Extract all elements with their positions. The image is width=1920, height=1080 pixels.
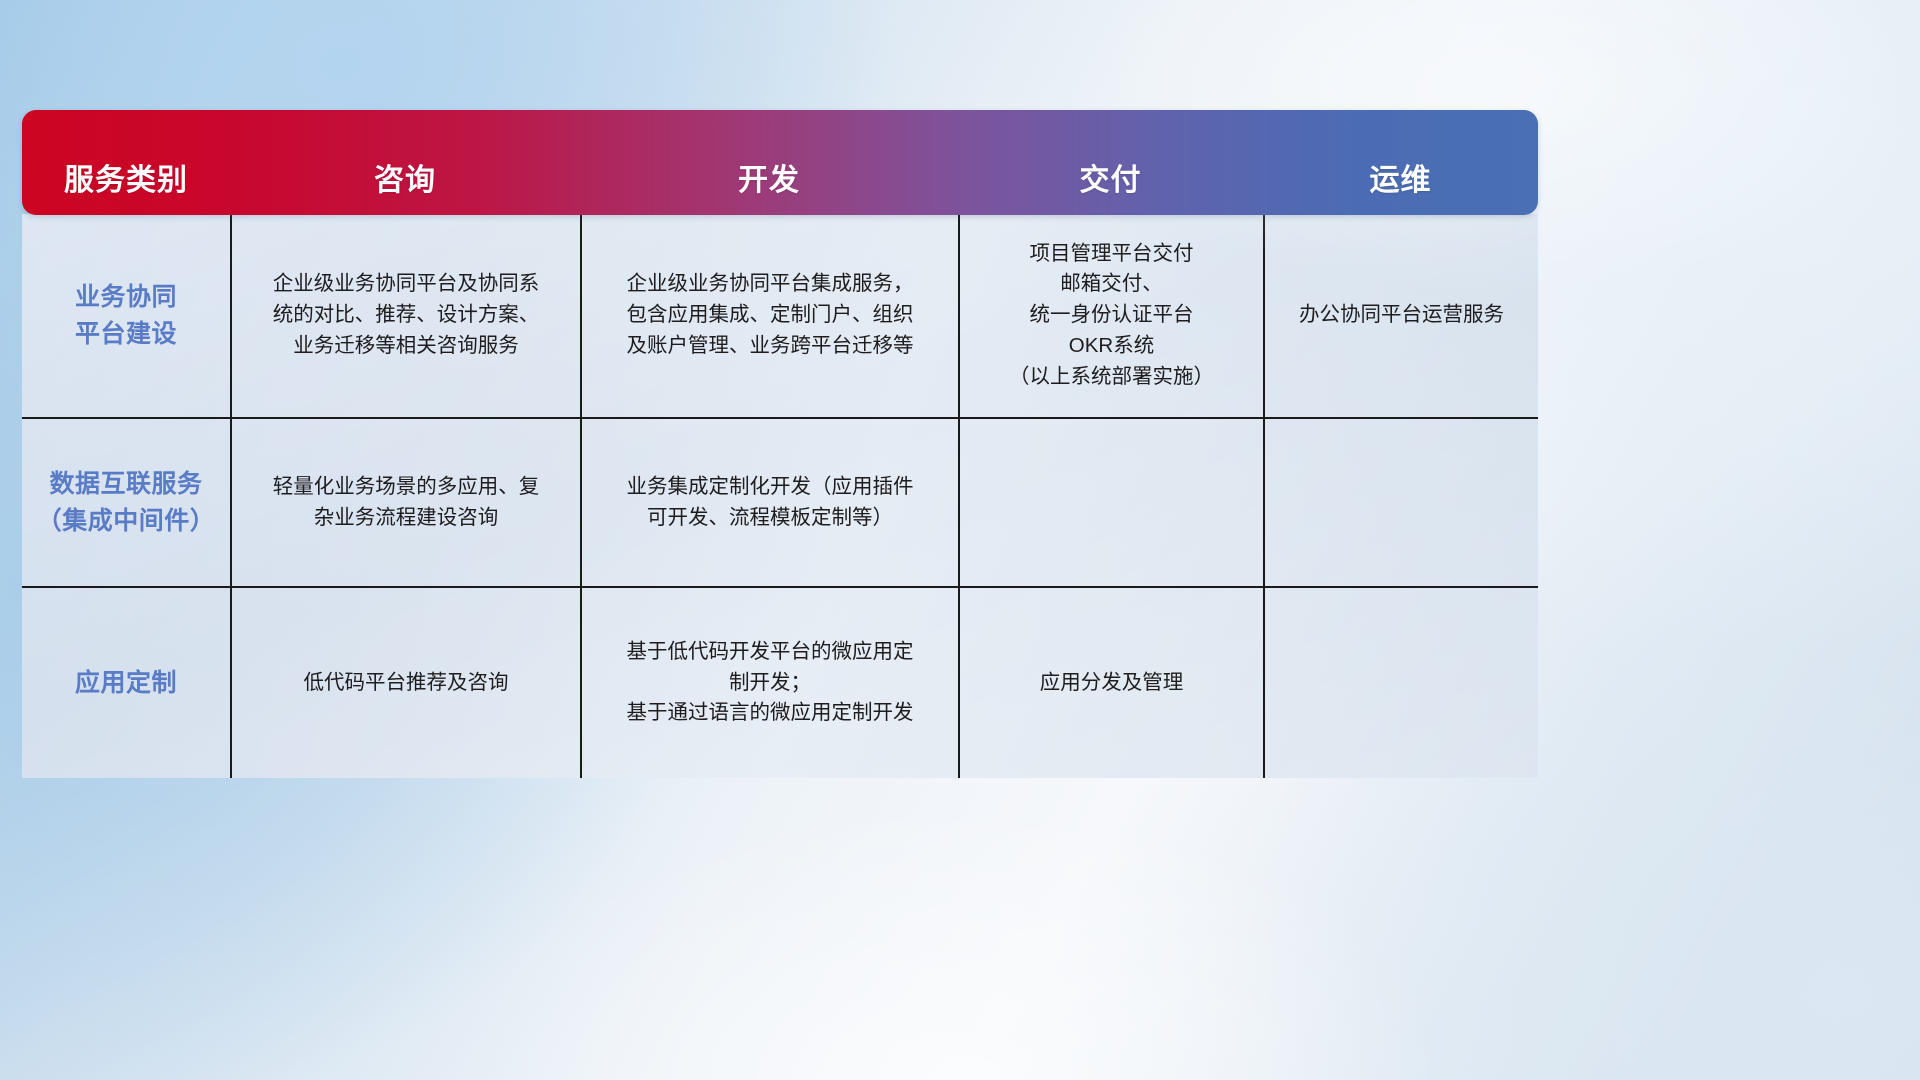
- cell-delivery-row-3: 应用分发及管理: [958, 588, 1263, 778]
- column-header-category: 服务类别: [22, 110, 230, 215]
- table-row: 业务协同 平台建设 企业级业务协同平台及协同系 统的对比、推荐、设计方案、 业务…: [22, 214, 1538, 417]
- row-label-data-interconnect: 数据互联服务 （集成中间件）: [22, 419, 230, 586]
- table-body: 业务协同 平台建设 企业级业务协同平台及协同系 统的对比、推荐、设计方案、 业务…: [22, 214, 1538, 778]
- cell-operations-row-3: [1263, 588, 1538, 778]
- cell-operations-row-2: [1263, 419, 1538, 586]
- cell-consulting-row-3: 低代码平台推荐及咨询: [230, 588, 580, 778]
- cell-operations-row-1: 办公协同平台运营服务: [1263, 214, 1538, 417]
- column-header-development: 开发: [580, 110, 958, 215]
- table-header-row: 服务类别 咨询 开发 交付 运维: [22, 110, 1538, 215]
- row-label-business-collaboration: 业务协同 平台建设: [22, 214, 230, 417]
- column-header-consulting: 咨询: [230, 110, 580, 215]
- cell-development-row-3: 基于低代码开发平台的微应用定 制开发； 基于通过语言的微应用定制开发: [580, 588, 958, 778]
- cell-consulting-row-1: 企业级业务协同平台及协同系 统的对比、推荐、设计方案、 业务迁移等相关咨询服务: [230, 214, 580, 417]
- row-label-app-customization: 应用定制: [22, 588, 230, 778]
- cell-development-row-2: 业务集成定制化开发（应用插件 可开发、流程模板定制等）: [580, 419, 958, 586]
- table-row: 应用定制 低代码平台推荐及咨询 基于低代码开发平台的微应用定 制开发； 基于通过…: [22, 586, 1538, 778]
- cell-delivery-row-2: [958, 419, 1263, 586]
- cell-delivery-row-1: 项目管理平台交付 邮箱交付、 统一身份认证平台 OKR系统 （以上系统部署实施）: [958, 214, 1263, 417]
- cell-development-row-1: 企业级业务协同平台集成服务， 包含应用集成、定制门户、组织 及账户管理、业务跨平…: [580, 214, 958, 417]
- slide-background: 服务类别 咨询 开发 交付 运维 业务协同 平台建设 企业级业务协同平台及协同系…: [0, 0, 1920, 1080]
- column-header-delivery: 交付: [958, 110, 1263, 215]
- cell-consulting-row-2: 轻量化业务场景的多应用、复 杂业务流程建设咨询: [230, 419, 580, 586]
- column-header-operations: 运维: [1263, 110, 1538, 215]
- service-matrix-table: 服务类别 咨询 开发 交付 运维 业务协同 平台建设 企业级业务协同平台及协同系…: [22, 110, 1538, 778]
- table-row: 数据互联服务 （集成中间件） 轻量化业务场景的多应用、复 杂业务流程建设咨询 业…: [22, 417, 1538, 586]
